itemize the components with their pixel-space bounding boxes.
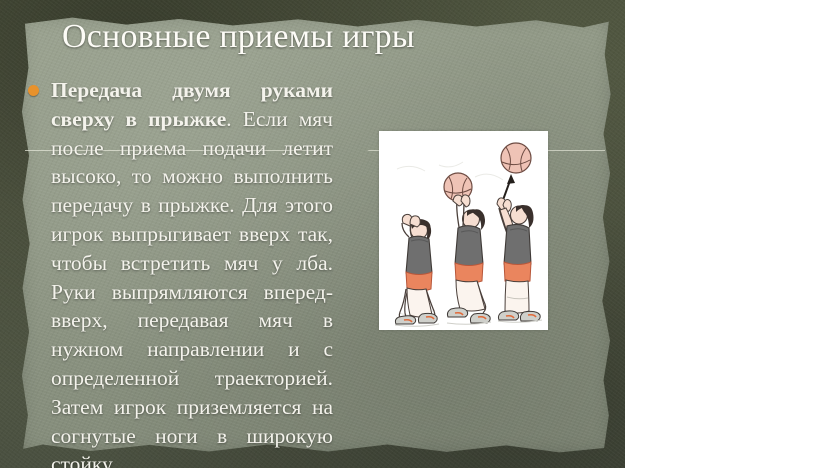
slide-title: Основные приемы игры bbox=[62, 17, 582, 57]
list-item: Передача двумя руками сверху в прыжке. Е… bbox=[28, 76, 333, 468]
orange-bullet-dot bbox=[28, 85, 39, 96]
presentation-slide: Основные приемы игры Передача двумя рука… bbox=[0, 0, 625, 468]
volleyball-jump-set-illustration bbox=[379, 131, 548, 330]
screenshot-canvas: Основные приемы игры Передача двумя рука… bbox=[0, 0, 819, 468]
volleyball-sequence-drawing bbox=[379, 131, 548, 330]
bullet-body-text: . Если мяч после приема подачи летит выс… bbox=[51, 107, 333, 468]
bullet-paragraph: Передача двумя руками сверху в прыжке. Е… bbox=[51, 76, 333, 468]
bullet-list: Передача двумя руками сверху в прыжке. Е… bbox=[28, 76, 333, 468]
